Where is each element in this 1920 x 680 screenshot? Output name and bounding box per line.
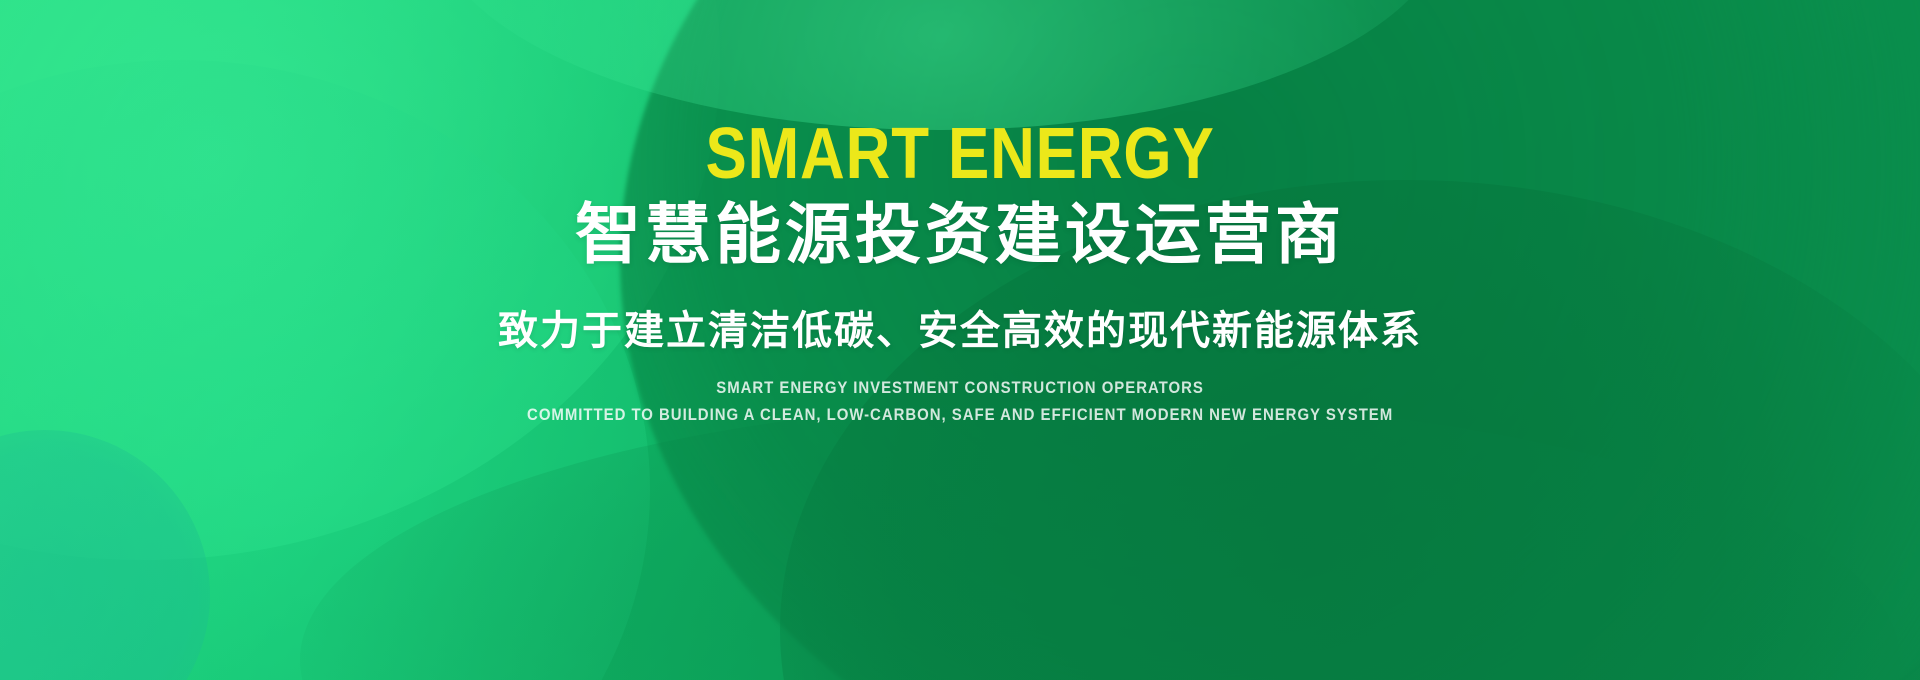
banner-caption-line-1: SMART ENERGY INVESTMENT CONSTRUCTION OPE… bbox=[716, 377, 1204, 400]
banner-title-english: SMART ENERGY bbox=[705, 118, 1214, 190]
banner-content: SMART ENERGY 智慧能源投资建设运营商 致力于建立清洁低碳、安全高效的… bbox=[0, 0, 1920, 680]
banner-subtitle-chinese: 致力于建立清洁低碳、安全高效的现代新能源体系 bbox=[498, 307, 1422, 355]
banner-caption-block: SMART ENERGY INVESTMENT CONSTRUCTION OPE… bbox=[468, 377, 1452, 427]
banner-title-chinese: 智慧能源投资建设运营商 bbox=[575, 198, 1345, 271]
banner-caption-line-2: COMMITTED TO BUILDING A CLEAN, LOW-CARBO… bbox=[527, 404, 1393, 427]
hero-banner: SMART ENERGY 智慧能源投资建设运营商 致力于建立清洁低碳、安全高效的… bbox=[0, 0, 1920, 680]
